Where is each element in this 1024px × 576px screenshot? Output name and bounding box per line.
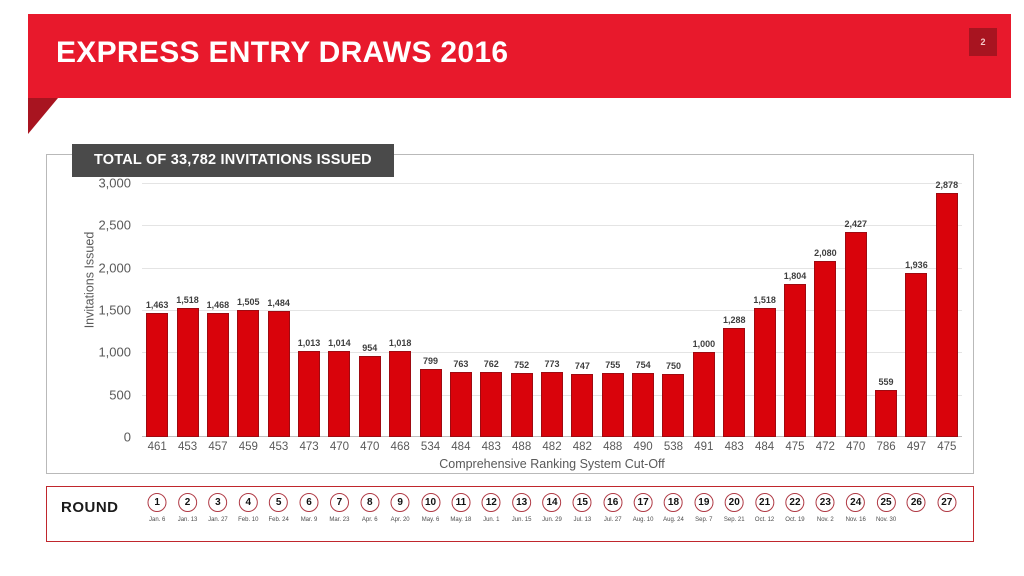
bar-value-label: 799 <box>423 356 438 366</box>
round-number-circle: 25 <box>877 493 896 512</box>
bar[interactable] <box>177 308 199 437</box>
round-date-label: Feb. 24 <box>268 517 288 523</box>
bar-slot: 1,018 <box>389 183 411 437</box>
bar[interactable] <box>389 351 411 437</box>
y-axis-tick: 500 <box>109 387 131 402</box>
y-axis-tick: 1,500 <box>98 303 131 318</box>
bar[interactable] <box>268 311 290 437</box>
round-number-circle: 3 <box>208 493 227 512</box>
bar-slot: 1,804 <box>784 183 806 437</box>
bar-value-label: 752 <box>514 360 529 370</box>
round-date-label: Mar. 9 <box>300 517 319 523</box>
round-date-label: Sep. 7 <box>694 517 713 523</box>
bar[interactable] <box>480 372 502 437</box>
round-item[interactable]: 16Jul. 27 <box>603 493 622 523</box>
bar[interactable] <box>420 369 442 437</box>
round-date-label: Nov. 2 <box>816 517 835 523</box>
x-axis-tick: 473 <box>299 441 318 453</box>
bar[interactable] <box>784 284 806 437</box>
bar[interactable] <box>662 374 684 438</box>
round-number-circle: 14 <box>543 493 562 512</box>
round-number-circle: 26 <box>907 493 926 512</box>
y-axis-tick: 1,000 <box>98 345 131 360</box>
round-number-circle: 11 <box>451 493 470 512</box>
plot-area: 1,4631,5181,4681,5051,4841,0131,0149541,… <box>142 183 962 437</box>
bar[interactable] <box>602 373 624 437</box>
bar[interactable] <box>632 373 654 437</box>
x-axis-tick: 482 <box>573 441 592 453</box>
bar-value-label: 773 <box>544 359 559 369</box>
round-date-label: Jun. 1 <box>482 517 501 523</box>
x-axis-tick: 488 <box>603 441 622 453</box>
round-date-label: Apr. 6 <box>360 517 379 523</box>
bar[interactable] <box>146 313 168 437</box>
x-axis-tick: 491 <box>694 441 713 453</box>
bar-value-label: 763 <box>453 359 468 369</box>
y-axis-tick: 2,000 <box>98 260 131 275</box>
round-item[interactable]: 10May. 6 <box>421 493 440 523</box>
round-number-circle: 4 <box>239 493 258 512</box>
bar-value-label: 1,484 <box>267 298 290 308</box>
bar-value-label: 1,936 <box>905 260 928 270</box>
round-item[interactable]: 13Jun. 15 <box>512 493 532 523</box>
bar[interactable] <box>875 390 897 437</box>
round-number-circle: 15 <box>573 493 592 512</box>
bar[interactable] <box>845 232 867 437</box>
bar-slot: 762 <box>480 183 502 437</box>
bar-value-label: 559 <box>879 377 894 387</box>
bar[interactable] <box>693 352 715 437</box>
bar-slot: 2,427 <box>845 183 867 437</box>
bar-slot: 1,288 <box>723 183 745 437</box>
round-number-circle: 9 <box>391 493 410 512</box>
bar-value-label: 1,518 <box>176 295 199 305</box>
bar-slot: 1,518 <box>754 183 776 437</box>
round-item[interactable]: 25Nov. 30 <box>876 493 896 523</box>
bar-slot: 763 <box>450 183 472 437</box>
round-number-circle: 8 <box>360 493 379 512</box>
round-item[interactable]: 9Apr. 20 <box>391 493 410 523</box>
round-number-circle: 18 <box>664 493 683 512</box>
bar-value-label: 1,505 <box>237 297 260 307</box>
bar-value-label: 1,014 <box>328 338 351 348</box>
bar-value-label: 750 <box>666 361 681 371</box>
bar[interactable] <box>237 310 259 437</box>
bar[interactable] <box>328 351 350 437</box>
round-date-label: Aug. 24 <box>663 517 684 523</box>
bar-value-label: 1,000 <box>693 339 716 349</box>
y-axis-tick: 0 <box>124 430 131 445</box>
round-number-circle: 22 <box>785 493 804 512</box>
round-item[interactable]: 18Aug. 24 <box>663 493 684 523</box>
round-number-circle: 5 <box>269 493 288 512</box>
x-axis-tick: 490 <box>634 441 653 453</box>
x-axis-tick: 483 <box>482 441 501 453</box>
round-item[interactable]: 3Jan. 27 <box>208 493 228 523</box>
round-strip: ROUND 1Jan. 62Jan. 133Jan. 274Feb. 105Fe… <box>46 486 974 542</box>
bar[interactable] <box>936 193 958 437</box>
round-date-label: Aug. 10 <box>633 517 654 523</box>
chart-card: Invitations Issued 05001,0001,5002,0002,… <box>46 154 974 474</box>
round-item[interactable]: 4Feb. 10 <box>238 493 258 523</box>
x-axis-tick: 484 <box>755 441 774 453</box>
x-axis-tick: 461 <box>148 441 167 453</box>
round-date-label: Jan. 27 <box>208 517 228 523</box>
round-number-circle: 24 <box>846 493 865 512</box>
bar-value-label: 1,804 <box>784 271 807 281</box>
bar-value-label: 754 <box>636 360 651 370</box>
x-axis-tick: 470 <box>846 441 865 453</box>
bar-value-label: 762 <box>484 359 499 369</box>
round-item[interactable]: 15Jul. 13 <box>573 493 592 523</box>
x-axis-tick: 538 <box>664 441 683 453</box>
bar-value-label: 2,878 <box>936 180 959 190</box>
round-date-label: Jun. 15 <box>512 517 532 523</box>
round-item[interactable]: 1Jan. 6 <box>148 493 167 523</box>
round-number-circle: 21 <box>755 493 774 512</box>
bar-value-label: 755 <box>605 360 620 370</box>
x-axis-title: Comprehensive Ranking System Cut-Off <box>142 457 962 471</box>
x-axis-tick: 497 <box>907 441 926 453</box>
bar-slot: 954 <box>359 183 381 437</box>
round-number-circle: 20 <box>725 493 744 512</box>
x-axis-tick: 534 <box>421 441 440 453</box>
bar[interactable] <box>814 261 836 437</box>
round-item[interactable]: 6Mar. 9 <box>300 493 319 523</box>
subtitle-banner: TOTAL OF 33,782 INVITATIONS ISSUED <box>72 144 394 177</box>
x-axis-tick: 475 <box>937 441 956 453</box>
round-items: 1Jan. 62Jan. 133Jan. 274Feb. 105Feb. 246… <box>142 487 962 543</box>
round-date-label: Nov. 16 <box>846 517 866 523</box>
x-axis-tick: 483 <box>725 441 744 453</box>
round-item[interactable]: 23Nov. 2 <box>816 493 835 523</box>
bar-slot: 750 <box>662 183 684 437</box>
bar-slot: 755 <box>602 183 624 437</box>
round-number-circle: 17 <box>634 493 653 512</box>
round-number-circle: 12 <box>482 493 501 512</box>
round-date-label: May. 18 <box>450 517 471 523</box>
x-axis-tick: 475 <box>785 441 804 453</box>
round-date-label: Oct. 19 <box>785 517 804 523</box>
round-number-circle: 1 <box>148 493 167 512</box>
x-axis-tick: 470 <box>330 441 349 453</box>
round-item[interactable]: 8Apr. 6 <box>360 493 379 523</box>
bar-slot: 799 <box>420 183 442 437</box>
bar-slot: 773 <box>541 183 563 437</box>
round-number-circle: 6 <box>300 493 319 512</box>
round-item[interactable]: 14Jun. 29 <box>542 493 562 523</box>
round-item[interactable]: 19Sep. 7 <box>694 493 713 523</box>
round-date-label: Nov. 30 <box>876 517 896 523</box>
bar[interactable] <box>571 374 593 437</box>
x-axis-tick: 482 <box>542 441 561 453</box>
bar-slot: 1,014 <box>328 183 350 437</box>
bar-value-label: 1,013 <box>298 338 321 348</box>
x-axis-tick: 786 <box>876 441 895 453</box>
x-axis-tick: 468 <box>391 441 410 453</box>
bar-slot: 1,505 <box>237 183 259 437</box>
bar-slot: 752 <box>511 183 533 437</box>
bar-slot: 1,484 <box>268 183 290 437</box>
bar-value-label: 954 <box>362 343 377 353</box>
round-number-circle: 23 <box>816 493 835 512</box>
round-number-circle: 7 <box>330 493 349 512</box>
bar-slot: 1,013 <box>298 183 320 437</box>
bar-value-label: 2,427 <box>844 219 867 229</box>
bar-slot: 1,468 <box>207 183 229 437</box>
round-item[interactable]: 11May. 18 <box>450 493 471 523</box>
bar[interactable] <box>905 273 927 437</box>
bar-slot: 1,463 <box>146 183 168 437</box>
bar-value-label: 1,018 <box>389 338 412 348</box>
round-item[interactable]: 27 <box>937 493 956 512</box>
round-date-label: Jul. 13 <box>573 517 592 523</box>
page-title: EXPRESS ENTRY DRAWS 2016 <box>56 36 508 70</box>
bar[interactable] <box>754 308 776 437</box>
bar[interactable] <box>541 372 563 437</box>
banner-notch-decoration <box>28 98 58 134</box>
bar-value-label: 1,518 <box>753 295 776 305</box>
x-axis-tick: 453 <box>269 441 288 453</box>
round-date-label: Mar. 23 <box>329 517 349 523</box>
round-item[interactable]: 21Oct. 12 <box>755 493 774 523</box>
x-axis-tick: 453 <box>178 441 197 453</box>
round-date-label: May. 6 <box>421 517 440 523</box>
round-date-label: Jul. 27 <box>603 517 622 523</box>
y-axis-tick: 3,000 <box>98 176 131 191</box>
round-item[interactable]: 20Sep. 21 <box>724 493 745 523</box>
bar-value-label: 1,468 <box>207 300 230 310</box>
x-axis-tick: 472 <box>816 441 835 453</box>
round-date-label: Feb. 10 <box>238 517 258 523</box>
round-number-circle: 19 <box>694 493 713 512</box>
round-item[interactable]: 17Aug. 10 <box>633 493 654 523</box>
bar-value-label: 747 <box>575 361 590 371</box>
y-axis-tick: 2,500 <box>98 218 131 233</box>
round-date-label: Apr. 20 <box>391 517 410 523</box>
bar-slot: 2,080 <box>814 183 836 437</box>
page-number-badge: 2 <box>969 28 997 56</box>
bar-slot: 1,000 <box>693 183 715 437</box>
x-axis-tick: 484 <box>451 441 470 453</box>
x-axis-tick: 470 <box>360 441 379 453</box>
bar[interactable] <box>723 328 745 437</box>
round-number-circle: 13 <box>512 493 531 512</box>
bar[interactable] <box>359 356 381 437</box>
round-date-label: Oct. 12 <box>755 517 774 523</box>
bar[interactable] <box>511 373 533 437</box>
round-date-label: Jan. 6 <box>148 517 167 523</box>
title-banner: EXPRESS ENTRY DRAWS 2016 2 <box>28 14 1011 98</box>
round-item[interactable]: 7Mar. 23 <box>329 493 349 523</box>
x-axis-tick: 457 <box>208 441 227 453</box>
bar[interactable] <box>207 313 229 437</box>
x-axis-tick: 459 <box>239 441 258 453</box>
bar[interactable] <box>450 372 472 437</box>
round-item[interactable]: 24Nov. 16 <box>846 493 866 523</box>
round-strip-label: ROUND <box>61 499 119 516</box>
bar-value-label: 1,463 <box>146 300 169 310</box>
x-axis-tick: 488 <box>512 441 531 453</box>
round-item[interactable]: 22Oct. 19 <box>785 493 804 523</box>
round-date-label: Sep. 21 <box>724 517 745 523</box>
round-item[interactable]: 2Jan. 13 <box>178 493 198 523</box>
round-item[interactable]: 5Feb. 24 <box>268 493 288 523</box>
bar-slot: 2,878 <box>936 183 958 437</box>
bar-slot: 747 <box>571 183 593 437</box>
bar-value-label: 1,288 <box>723 315 746 325</box>
round-date-label: Jan. 13 <box>178 517 198 523</box>
round-number-circle: 10 <box>421 493 440 512</box>
bar-slot: 754 <box>632 183 654 437</box>
y-axis-ticks: 05001,0001,5002,0002,5003,000 <box>65 183 137 437</box>
round-item[interactable]: 12Jun. 1 <box>482 493 501 523</box>
round-number-circle: 16 <box>603 493 622 512</box>
round-date-label: Jun. 29 <box>542 517 562 523</box>
round-number-circle: 27 <box>937 493 956 512</box>
bar-slot: 1,936 <box>905 183 927 437</box>
bar[interactable] <box>298 351 320 437</box>
round-number-circle: 2 <box>178 493 197 512</box>
bar-value-label: 2,080 <box>814 248 837 258</box>
bar-slot: 1,518 <box>177 183 199 437</box>
round-item[interactable]: 26 <box>907 493 926 512</box>
bar-slot: 559 <box>875 183 897 437</box>
